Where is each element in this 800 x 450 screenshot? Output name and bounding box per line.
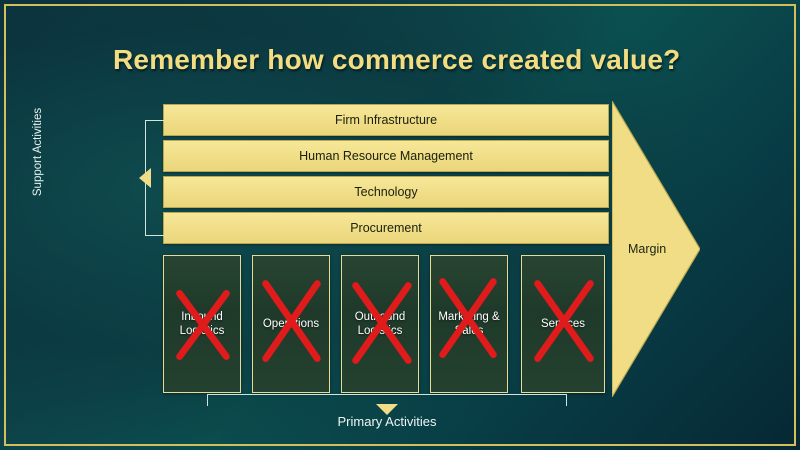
primary-activity-box[interactable]: Marketing & Sales — [430, 255, 508, 393]
primary-activity-box[interactable]: Services — [521, 255, 605, 393]
primary-activity-box[interactable]: Inbound Logistics — [163, 255, 241, 393]
support-activity-label: Procurement — [350, 221, 422, 235]
support-activity-row[interactable]: Technology — [163, 176, 609, 208]
primary-activity-label: Inbound Logistics — [164, 310, 240, 339]
primary-activity-box[interactable]: Outbound Logistics — [341, 255, 419, 393]
support-activity-row[interactable]: Procurement — [163, 212, 609, 244]
slide-canvas: Remember how commerce created value? Mar… — [0, 0, 800, 450]
primary-activity-label: Marketing & Sales — [431, 310, 507, 339]
support-activity-label: Technology — [354, 185, 417, 199]
support-activities-pointer-icon — [139, 168, 151, 188]
margin-label: Margin — [628, 242, 666, 256]
primary-activity-label: Services — [537, 317, 589, 331]
primary-activities-label: Primary Activities — [0, 414, 774, 429]
support-activity-label: Firm Infrastructure — [335, 113, 437, 127]
primary-activity-label: Operations — [259, 317, 323, 331]
page-title: Remember how commerce created value? — [113, 44, 680, 76]
primary-activity-label: Outbound Logistics — [342, 310, 418, 339]
support-activity-row[interactable]: Human Resource Management — [163, 140, 609, 172]
support-activity-row[interactable]: Firm Infrastructure — [163, 104, 609, 136]
primary-activity-box[interactable]: Operations — [252, 255, 330, 393]
support-activity-label: Human Resource Management — [299, 149, 473, 163]
support-activities-label: Support Activities — [32, 92, 44, 212]
